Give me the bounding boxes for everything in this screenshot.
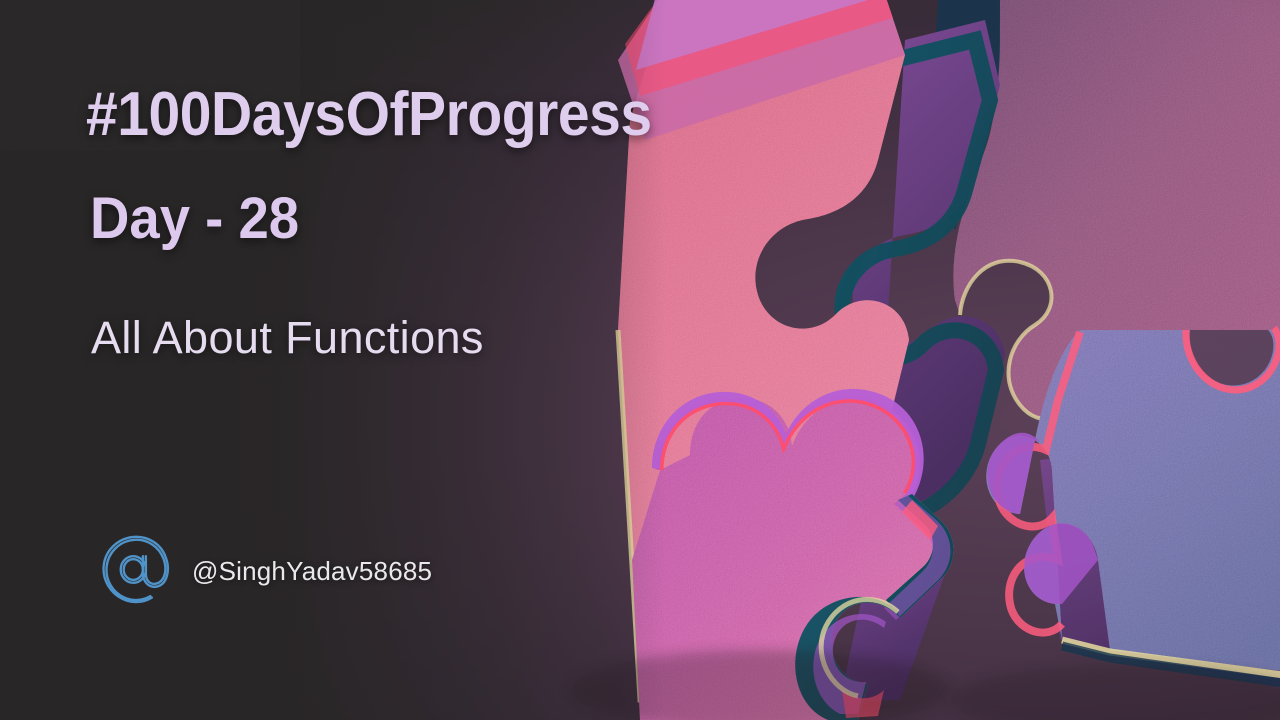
at-sign-icon (100, 534, 174, 608)
subtitle: All About Functions (91, 315, 484, 360)
handle-username: @SinghYadav58685 (192, 556, 432, 587)
text-overlay: #100DaysOfProgress Day - 28 All About Fu… (0, 0, 760, 720)
author-handle: @SinghYadav58685 (100, 534, 432, 608)
thumbnail-canvas: #100DaysOfProgress Day - 28 All About Fu… (0, 0, 1280, 720)
day-label: Day - 28 (90, 190, 299, 248)
hashtag-title: #100DaysOfProgress (86, 84, 652, 146)
